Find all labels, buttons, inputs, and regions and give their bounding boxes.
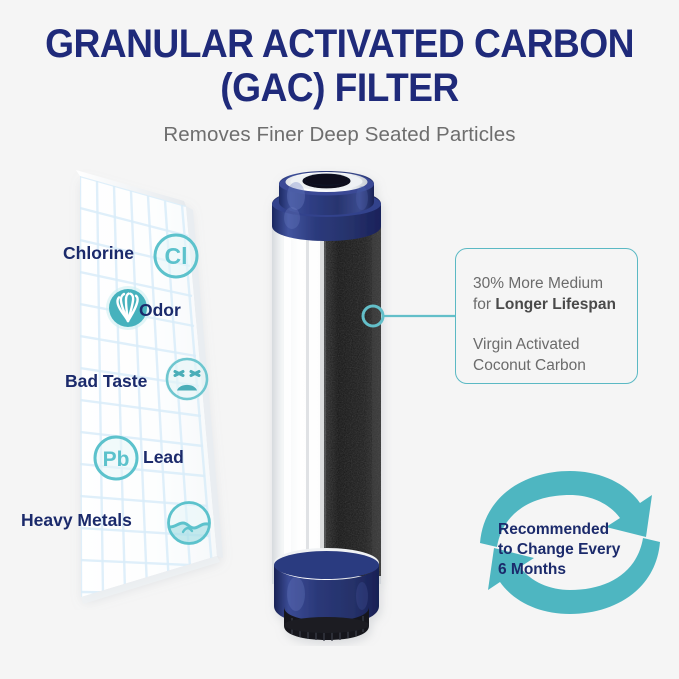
callout-box: 30% More Medium for Longer Lifespan Virg… (455, 248, 638, 384)
page-subtitle: Removes Finer Deep Seated Particles (0, 123, 679, 147)
callout-line-2-bold: Longer Lifespan (495, 296, 616, 313)
callout-line-1: 30% More Medium (473, 273, 637, 294)
header: GRANULAR ACTIVATED CARBON (GAC) FILTER R… (0, 22, 679, 147)
label-chlorine: Chlorine (63, 243, 134, 264)
cycle-text-line-3: 6 Months (498, 560, 658, 580)
callout-spacer (473, 315, 637, 334)
page-title-line-2: (GAC) FILTER (24, 66, 655, 110)
label-heavy-metals: Heavy Metals (21, 510, 132, 531)
infographic-canvas: GRANULAR ACTIVATED CARBON (GAC) FILTER R… (0, 0, 679, 679)
callout-line-3: Virgin Activated (473, 334, 637, 355)
cycle-text-line-2: to Change Every (498, 540, 658, 560)
contaminant-label-group: Chlorine Odor Bad Taste Lead Heavy Metal… (0, 160, 260, 610)
replacement-cycle-text: Recommended to Change Every 6 Months (498, 520, 658, 580)
page-title: GRANULAR ACTIVATED CARBON (GAC) FILTER (24, 22, 655, 110)
callout-line-2-plain: for (473, 296, 495, 313)
callout-line-4: Coconut Carbon (473, 355, 637, 376)
callout-connector (360, 300, 470, 336)
granular-activated-carbon-filter-cartridge (262, 166, 392, 646)
label-bad-taste: Bad Taste (65, 371, 147, 392)
callout-line-2: for Longer Lifespan (473, 294, 637, 315)
label-lead: Lead (143, 447, 184, 468)
label-odor: Odor (139, 300, 181, 321)
page-title-line-1: GRANULAR ACTIVATED CARBON (45, 22, 634, 66)
cycle-text-line-1: Recommended (498, 520, 658, 540)
activated-carbon-media (324, 222, 381, 576)
